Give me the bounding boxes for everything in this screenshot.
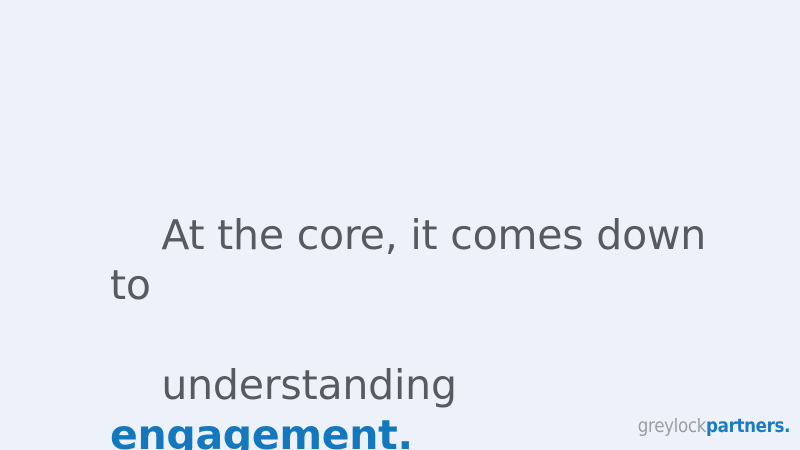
logo-word-greylock: greylock [638,415,706,437]
presentation-slide: At the core, it comes down to understand… [0,0,800,450]
headline-line-1: At the core, it comes down to [110,211,719,309]
headline-line-2-plain: understanding [161,361,469,409]
greylock-partners-logo: greylockpartners. [638,416,790,436]
headline-emphasis-engagement: engagement. [110,411,413,450]
headline-text: At the core, it comes down to understand… [110,160,730,450]
logo-word-partners: partners. [706,415,790,437]
